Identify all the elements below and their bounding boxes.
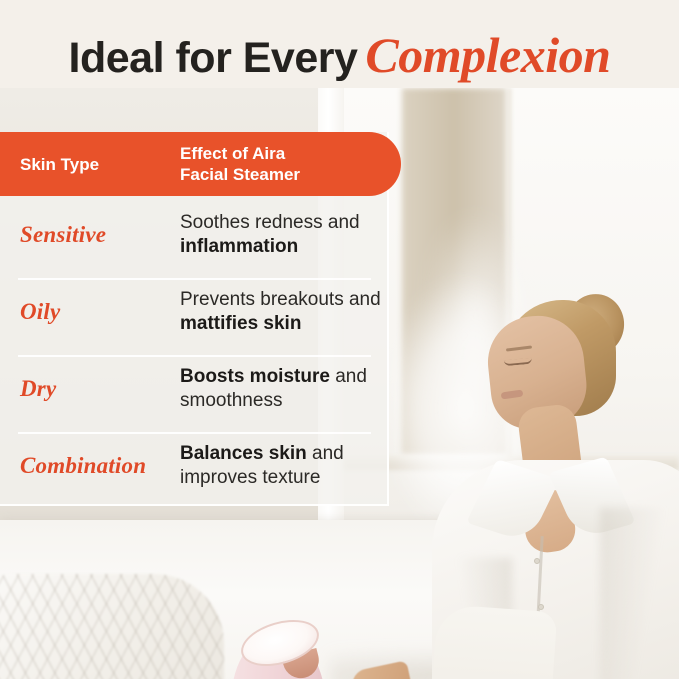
shirt-button bbox=[534, 558, 540, 564]
cell-skin-type: Combination bbox=[0, 453, 180, 479]
table-row: Oily Prevents breakouts and mattifies sk… bbox=[0, 273, 389, 350]
table-row: Sensitive Soothes redness and inflammati… bbox=[0, 196, 389, 273]
title-accent-text: Complexion bbox=[365, 27, 610, 83]
column-header-effect-line2: Facial Steamer bbox=[180, 165, 300, 184]
knit-texture bbox=[0, 574, 224, 679]
cell-effect: Soothes redness and inflammation bbox=[180, 211, 389, 259]
cell-effect: Balances skin and improves texture bbox=[180, 442, 389, 490]
skin-type-table: Skin Type Effect of Aira Facial Steamer … bbox=[0, 132, 389, 506]
title-plain-text: Ideal for Every bbox=[69, 34, 358, 82]
effect-bold: Balances skin bbox=[180, 443, 307, 464]
shirt-fold bbox=[600, 508, 670, 679]
shirt-button bbox=[538, 604, 544, 610]
product-infographic: Ideal for EveryComplexion Skin Type Effe… bbox=[0, 0, 679, 679]
page-title: Ideal for EveryComplexion bbox=[0, 26, 679, 84]
effect-bold: inflammation bbox=[180, 236, 298, 257]
effect-pre: Prevents breakouts and bbox=[180, 289, 381, 310]
column-header-effect: Effect of Aira Facial Steamer bbox=[180, 143, 380, 185]
table-header-bar: Skin Type Effect of Aira Facial Steamer bbox=[0, 132, 401, 196]
cell-skin-type: Oily bbox=[0, 299, 180, 325]
facial-steamer-device bbox=[228, 616, 328, 679]
column-header-skin-type: Skin Type bbox=[0, 154, 180, 175]
cell-effect: Boosts moisture and smoothness bbox=[180, 365, 389, 413]
cell-skin-type: Dry bbox=[0, 376, 180, 402]
knit-pillow bbox=[0, 574, 224, 679]
cell-skin-type: Sensitive bbox=[0, 222, 180, 248]
effect-pre: Soothes redness and bbox=[180, 212, 360, 233]
effect-bold: mattifies skin bbox=[180, 313, 301, 334]
effect-bold: Boosts moisture bbox=[180, 366, 330, 387]
table-row: Dry Boosts moisture and smoothness bbox=[0, 350, 389, 427]
cell-effect: Prevents breakouts and mattifies skin bbox=[180, 288, 389, 336]
table-row: Combination Balances skin and improves t… bbox=[0, 427, 389, 504]
column-header-effect-line1: Effect of Aira bbox=[180, 144, 285, 163]
